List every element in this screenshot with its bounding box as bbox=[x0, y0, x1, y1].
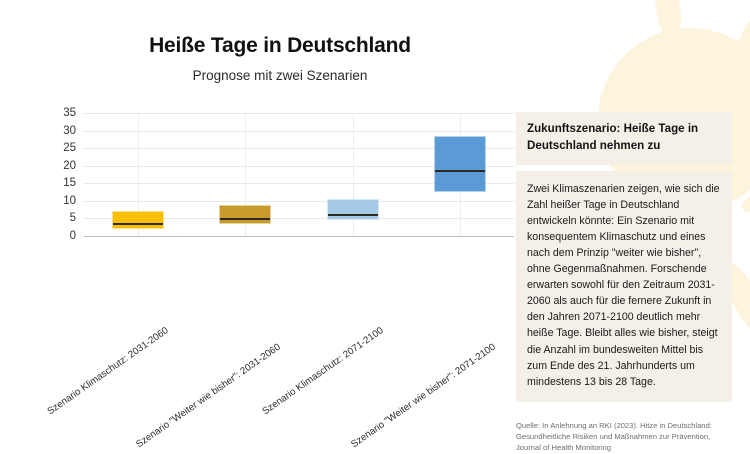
y-axis-tick-label: 25 bbox=[63, 142, 76, 154]
x-axis-tick-label: Szenario "Weiter wie bisher": 2071-2100 bbox=[349, 342, 498, 451]
box-plot-box[interactable] bbox=[327, 199, 379, 220]
box-plot-median-line bbox=[328, 214, 378, 216]
chart-header: Heiße Tage in Deutschland Prognose mit z… bbox=[0, 34, 560, 83]
x-axis-tick-label: Szenario Klimaschutz: 2031-2060 bbox=[45, 325, 170, 417]
page-title: Heiße Tage in Deutschland bbox=[0, 34, 560, 58]
box-plot-group[interactable]: Szenario "Weiter wie bisher": 2031-2060 bbox=[219, 113, 271, 236]
box-plot-box[interactable] bbox=[112, 211, 164, 229]
sidebar-panel: Zukunftszenario: Heiße Tage in Deutschla… bbox=[516, 112, 732, 454]
y-axis-tick-label: 20 bbox=[63, 160, 76, 172]
sidebar-heading: Zukunftszenario: Heiße Tage in Deutschla… bbox=[516, 112, 732, 165]
box-plot-box[interactable] bbox=[434, 136, 486, 192]
box-plot-median-line bbox=[113, 223, 163, 225]
y-axis-tick-label: 10 bbox=[63, 195, 76, 207]
x-axis-tick-label: Szenario "Weiter wie bisher": 2031-2060 bbox=[134, 342, 283, 451]
y-axis-tick-label: 35 bbox=[63, 107, 76, 119]
box-plot-median-line bbox=[220, 218, 270, 220]
source-citation: Quelle: In Anlehnung an RKI (2023). Hitz… bbox=[516, 420, 732, 454]
page-subtitle: Prognose mit zwei Szenarien bbox=[0, 68, 560, 83]
box-plot-box[interactable] bbox=[219, 205, 271, 224]
y-axis-tick-label: 5 bbox=[70, 212, 76, 224]
y-axis-tick-label: 15 bbox=[63, 177, 76, 189]
y-axis-tick-label: 30 bbox=[63, 125, 76, 137]
box-plot-group[interactable]: Szenario "Weiter wie bisher": 2071-2100 bbox=[434, 113, 486, 236]
sidebar-body-text: Zwei Klimaszenarien zeigen, wie sich die… bbox=[516, 171, 732, 402]
box-plot-median-line bbox=[435, 170, 485, 172]
plot-area: 05101520253035Szenario Klimaschutz: 2031… bbox=[84, 113, 514, 236]
gridline-y-0 bbox=[84, 236, 514, 237]
x-axis-tick-label: Szenario Klimaschutz: 2071-2100 bbox=[260, 325, 385, 417]
box-plot-chart: 05101520253035Szenario Klimaschutz: 2031… bbox=[0, 105, 530, 405]
box-plot-group[interactable]: Szenario Klimaschutz: 2071-2100 bbox=[327, 113, 379, 236]
box-plot-group[interactable]: Szenario Klimaschutz: 2031-2060 bbox=[112, 113, 164, 236]
y-axis-tick-label: 0 bbox=[70, 230, 76, 242]
